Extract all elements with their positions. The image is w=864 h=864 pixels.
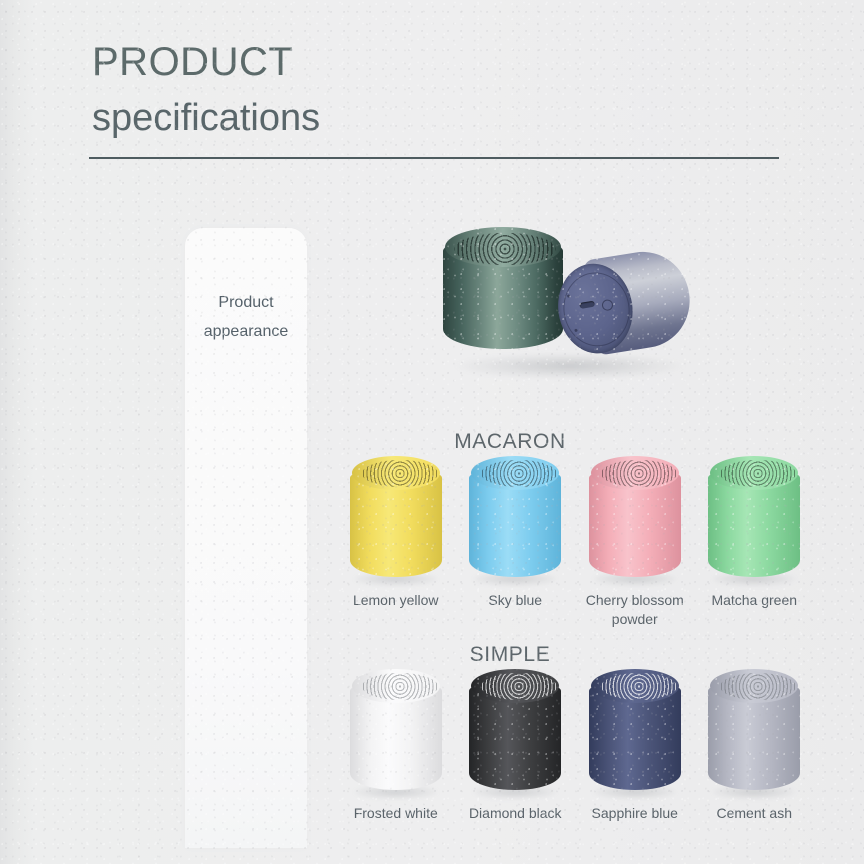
section-heading-macaron: MACARON bbox=[78, 430, 864, 454]
speaker-grille-icon bbox=[481, 460, 557, 487]
color-row-macaron: Lemon yellow Sky blue Cherry blossom pow… bbox=[336, 455, 814, 629]
hero-speaker-back bbox=[551, 245, 697, 362]
color-swatch[interactable]: Sapphire blue bbox=[575, 668, 695, 823]
page-title-line1: PRODUCT bbox=[92, 36, 320, 88]
hero-speaker-front-top bbox=[445, 227, 561, 267]
speaker-thumbnail bbox=[587, 668, 683, 796]
color-swatch[interactable]: Diamond black bbox=[456, 668, 576, 823]
page-title: PRODUCT specifications bbox=[92, 36, 320, 144]
color-swatch[interactable]: Matcha green bbox=[695, 455, 815, 629]
speaker-top bbox=[352, 669, 440, 703]
speaker-grille-icon bbox=[720, 673, 796, 700]
speaker-thumbnail bbox=[706, 668, 802, 796]
speaker-thumbnail bbox=[587, 455, 683, 583]
speaker-thumbnail bbox=[467, 455, 563, 583]
product-appearance-label: Product appearance bbox=[185, 288, 307, 346]
color-swatch-label: Matcha green bbox=[711, 591, 797, 610]
speaker-grille-icon bbox=[362, 460, 438, 487]
color-swatch-label: Frosted white bbox=[354, 804, 438, 823]
color-swatch[interactable]: Cherry blossom powder bbox=[575, 455, 695, 629]
speaker-grille-icon bbox=[481, 673, 557, 700]
hero-speaker-front bbox=[443, 225, 563, 358]
speaker-top bbox=[710, 456, 798, 490]
color-swatch[interactable]: Frosted white bbox=[336, 668, 456, 823]
speaker-top bbox=[352, 456, 440, 490]
speaker-top bbox=[591, 669, 679, 703]
color-swatch[interactable]: Sky blue bbox=[456, 455, 576, 629]
color-swatch-label: Diamond black bbox=[469, 804, 562, 823]
color-row-simple: Frosted white Diamond black Sapphire blu… bbox=[336, 668, 814, 823]
color-swatch[interactable]: Cement ash bbox=[695, 668, 815, 823]
color-swatch-label: Cement ash bbox=[717, 804, 792, 823]
speaker-grille-icon bbox=[601, 460, 677, 487]
product-specification-page: PRODUCT specifications Product appearanc… bbox=[0, 0, 864, 864]
speaker-top bbox=[710, 669, 798, 703]
speaker-thumbnail bbox=[706, 455, 802, 583]
base-rim bbox=[558, 268, 635, 351]
speaker-grille-icon bbox=[601, 673, 677, 700]
speaker-top bbox=[591, 456, 679, 490]
section-heading-simple: SIMPLE bbox=[78, 643, 864, 667]
speaker-thumbnail bbox=[348, 668, 444, 796]
color-swatch-label: Sapphire blue bbox=[592, 804, 678, 823]
speaker-grille-icon bbox=[454, 233, 556, 265]
color-swatch-label: Lemon yellow bbox=[353, 591, 439, 610]
title-divider bbox=[89, 157, 779, 159]
color-swatch[interactable]: Lemon yellow bbox=[336, 455, 456, 629]
hero-product-image bbox=[425, 215, 715, 395]
color-swatch-label: Sky blue bbox=[488, 591, 542, 610]
page-title-line2: specifications bbox=[92, 92, 320, 144]
speaker-top bbox=[471, 669, 559, 703]
speaker-thumbnail bbox=[348, 455, 444, 583]
color-swatch-label: Cherry blossom powder bbox=[586, 591, 684, 629]
speaker-top bbox=[471, 456, 559, 490]
speaker-thumbnail bbox=[467, 668, 563, 796]
speaker-grille-icon bbox=[720, 460, 796, 487]
speaker-grille-icon bbox=[362, 673, 438, 700]
